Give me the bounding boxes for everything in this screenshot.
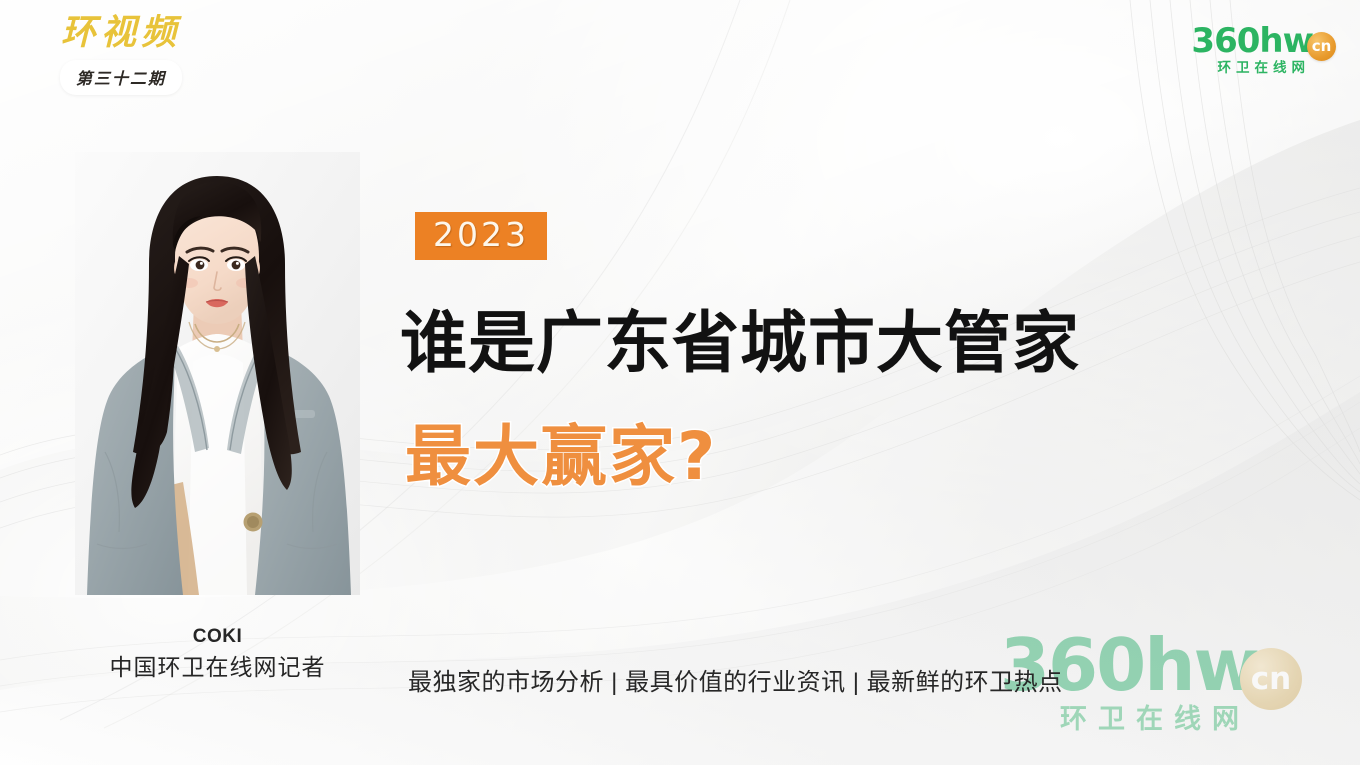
episode-badge: 第三十二期 [60,60,182,95]
video-cover-poster: 环视频 第三十二期 360hw cn 环卫在线网 [0,0,1360,765]
reporter-role: 中国环卫在线网记者 [75,651,360,683]
logo-wordmark-row: 360hw cn [1191,26,1336,57]
cn-badge-icon: cn [1307,32,1336,61]
reporter-photo [75,152,360,595]
footer-tagline: 最独家的市场分析 | 最具价值的行业资讯 | 最新鲜的环卫热点 [408,662,1063,697]
watermark-cn-badge-icon: cn [1240,648,1302,710]
site-logo[interactable]: 360hw cn 环卫在线网 [1191,26,1336,75]
headline-primary: 谁是广东省城市大管家 [400,310,1080,377]
logo-subtitle: 环卫在线网 [1191,61,1336,75]
reporter-caption: COKI 中国环卫在线网记者 [75,624,360,683]
reporter-portrait-illustration [75,152,360,595]
watermark-subtitle: 环卫在线网 [1000,706,1302,733]
headline-secondary: 最大赢家? [405,424,717,490]
brand-left-block: 环视频 第三十二期 [26,14,216,95]
program-title: 环视频 [26,14,216,53]
year-badge: 2023 [415,212,547,260]
reporter-name: COKI [75,624,360,650]
logo-wordmark-text: 360hw [1191,26,1313,57]
